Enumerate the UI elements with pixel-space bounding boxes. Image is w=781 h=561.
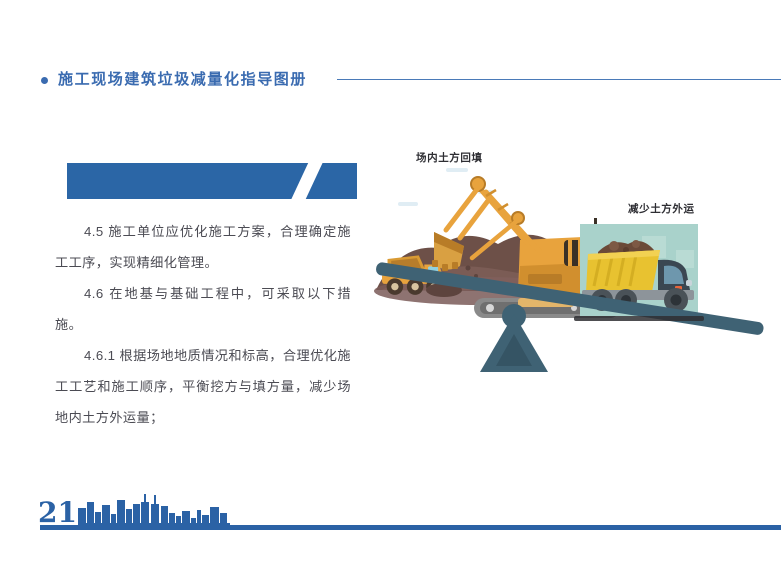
paragraph-4-5: 4.5 施工单位应优化施工方案，合理确定施工工序，实现精细化管理。 — [55, 216, 351, 278]
page-number: 21 — [38, 498, 77, 528]
label-reduce-haul-out: 减少土方外运 — [628, 201, 695, 216]
diagonal-slash-icon — [288, 163, 326, 199]
bullet-dot-icon — [41, 77, 48, 84]
illustration-svg — [368, 140, 768, 385]
section-banner — [67, 163, 357, 199]
label-onsite-backfill: 场内土方回填 — [416, 150, 483, 165]
paragraph-4-6: 4.6 在地基与基础工程中，可采取以下措施。 — [55, 278, 351, 340]
document-page: 施工现场建筑垃圾减量化指导图册 4.5 施工单位应优化施工方案，合理确定施工工序… — [0, 0, 781, 561]
city-skyline-icon — [78, 492, 230, 528]
page-header: 施工现场建筑垃圾减量化指导图册 — [0, 32, 781, 64]
paragraph-4-6-1: 4.6.1 根据场地地质情况和标高，合理优化施工工艺和施工顺序，平衡挖方与填方量… — [55, 340, 351, 433]
header-divider — [337, 79, 781, 80]
illustration-group: 场内土方回填 减少土方外运 — [368, 140, 768, 385]
page-title: 施工现场建筑垃圾减量化指导图册 — [58, 68, 307, 90]
footer-divider — [40, 525, 781, 530]
body-text-block: 4.5 施工单位应优化施工方案，合理确定施工工序，实现精细化管理。 4.6 在地… — [55, 216, 351, 433]
ground-line — [574, 316, 704, 321]
